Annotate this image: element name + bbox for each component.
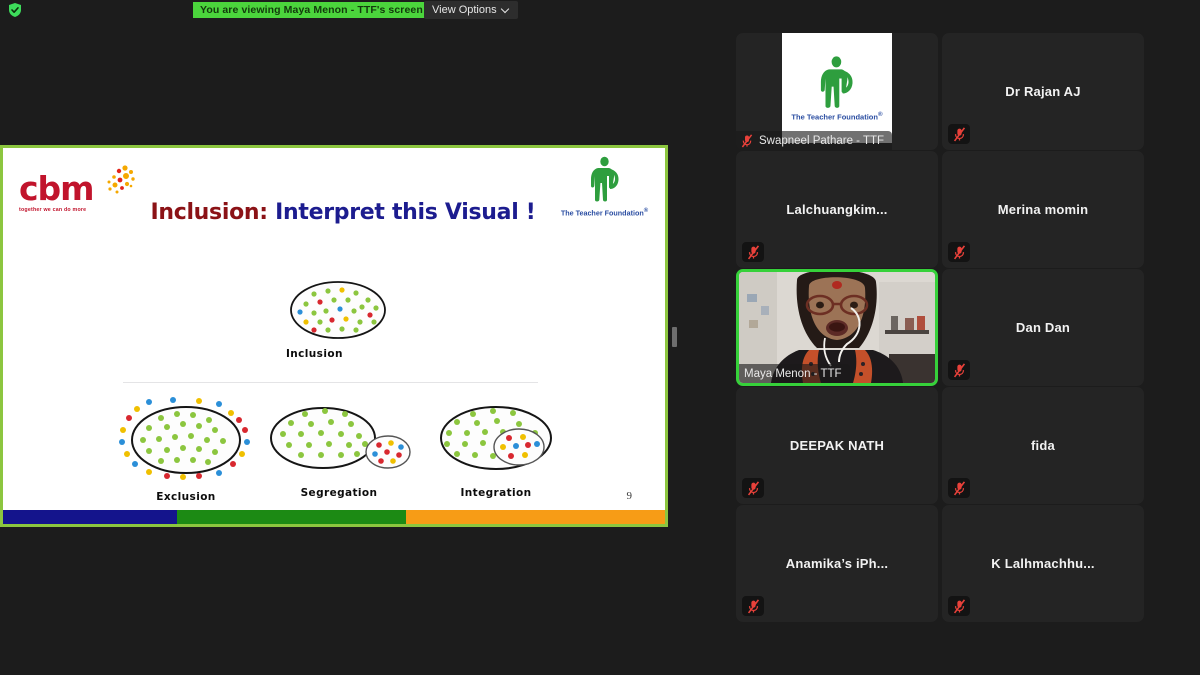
participant-name-overlay: Maya Menon - TTF: [739, 364, 850, 383]
segregation-diagram-graphic: [265, 400, 413, 480]
integration-diagram-graphic: [427, 400, 565, 480]
screen-share-banner-text: You are viewing Maya Menon - TTF's scree…: [200, 4, 423, 16]
diagram-integration-label: Integration: [427, 487, 565, 499]
diagram-exclusion: Exclusion: [111, 396, 261, 503]
diagram-inclusion: Inclusion: [286, 278, 390, 358]
slide-title-part2: Interpret this Visual !: [275, 200, 535, 225]
cbm-logo-tagline: together we can do more: [19, 207, 129, 213]
screen-share-scroll-handle[interactable]: [672, 327, 677, 347]
microphone-muted-icon: [948, 478, 970, 498]
footer-bar-3: [406, 510, 665, 524]
microphone-muted-icon: [948, 596, 970, 616]
teacher-foundation-logo: The Teacher Foundation®: [552, 156, 657, 226]
diagram-inclusion-label: Inclusion: [286, 348, 390, 360]
ttf-figure-icon: [585, 156, 625, 202]
diagram-integration: Integration: [427, 400, 565, 499]
participant-name: DEEPAK NATH: [736, 387, 938, 504]
zoom-meeting-window: You are viewing Maya Menon - TTF's scree…: [0, 0, 1200, 675]
footer-bar-2: [177, 510, 406, 524]
participant-tile-dr-rajan-aj[interactable]: Dr Rajan AJ: [942, 33, 1144, 150]
microphone-muted-icon: [948, 124, 970, 144]
diagram-segregation-label: Segregation: [265, 487, 413, 499]
shield-check-icon[interactable]: [4, 2, 26, 18]
participant-tile-maya-menon[interactable]: Maya Menon - TTF: [736, 269, 938, 386]
avatar: The Teacher Foundation®: [782, 33, 892, 143]
ttf-logo-caption: The Teacher Foundation®: [791, 111, 882, 122]
diagram-segregation: Segregation: [265, 400, 413, 499]
cbm-logo: cbm together we can do more: [19, 172, 129, 232]
participant-tile-anamikas-iphone[interactable]: Anamika’s iPh...: [736, 505, 938, 622]
participant-name: Anamika’s iPh...: [736, 505, 938, 622]
chevron-down-icon: [502, 6, 510, 14]
meeting-top-bar: You are viewing Maya Menon - TTF's scree…: [0, 0, 1200, 20]
diagram-exclusion-label: Exclusion: [111, 491, 261, 503]
shared-screen-area[interactable]: cbm together we can do more: [0, 145, 668, 527]
participant-tile-k-lalhmachhuana[interactable]: K Lalhmachhu...: [942, 505, 1144, 622]
microphone-muted-icon: [742, 242, 764, 262]
participant-name: fida: [942, 387, 1144, 504]
view-options-label: View Options: [432, 4, 497, 16]
participant-tile-lalchuangkim[interactable]: Lalchuangkim...: [736, 151, 938, 268]
participant-name: Swapneel Pathare - TTF: [759, 135, 884, 147]
participant-tile-fida[interactable]: fida: [942, 387, 1144, 504]
inclusion-diagram-graphic: [286, 278, 390, 342]
diagram-row: Exclusion: [3, 396, 668, 506]
participant-grid: The Teacher Foundation® Swapneel Pathare…: [736, 33, 1148, 620]
participant-name: Maya Menon - TTF: [744, 368, 842, 380]
participant-tile-deepak-nath[interactable]: DEEPAK NATH: [736, 387, 938, 504]
presentation-slide: cbm together we can do more: [0, 145, 668, 527]
participant-name: Lalchuangkim...: [736, 151, 938, 268]
exclusion-diagram-graphic: [111, 396, 261, 484]
participant-name: Dr Rajan AJ: [942, 33, 1144, 150]
microphone-muted-icon: [742, 596, 764, 616]
slide-footer-bars: [3, 510, 665, 524]
participant-name-overlay: Swapneel Pathare - TTF: [736, 131, 892, 150]
slide-title-part1: Inclusion:: [150, 200, 267, 225]
microphone-muted-icon: [948, 242, 970, 262]
slide-page-number: 9: [627, 490, 633, 502]
participant-tile-dan-dan[interactable]: Dan Dan: [942, 269, 1144, 386]
slide-divider: [123, 382, 538, 383]
slide-title: Inclusion: Interpret this Visual !: [133, 200, 553, 226]
participant-name: Merina momin: [942, 151, 1144, 268]
participant-tile-merina-momin[interactable]: Merina momin: [942, 151, 1144, 268]
ttf-figure-icon: [814, 55, 860, 109]
microphone-muted-icon: [741, 134, 754, 148]
participant-name: K Lalhmachhu...: [942, 505, 1144, 622]
ttf-logo-caption: The Teacher Foundation®: [552, 208, 657, 217]
footer-bar-1: [3, 510, 177, 524]
microphone-muted-icon: [742, 478, 764, 498]
view-options-button[interactable]: View Options: [424, 1, 518, 19]
participant-name: Dan Dan: [942, 269, 1144, 386]
microphone-muted-icon: [948, 360, 970, 380]
participant-tile-swapneel-pathare[interactable]: The Teacher Foundation® Swapneel Pathare…: [736, 33, 938, 150]
cbm-logo-dot-cluster: [95, 164, 137, 200]
screen-share-banner: You are viewing Maya Menon - TTF's scree…: [193, 2, 430, 18]
